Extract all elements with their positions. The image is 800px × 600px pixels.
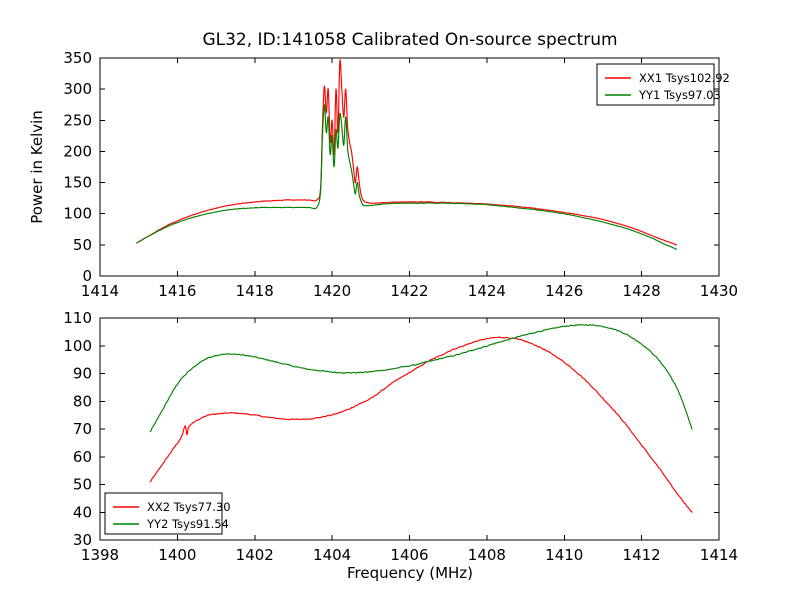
top-panel-legend[interactable]: XX1 Tsys102.92YY1 Tsys97.03 <box>597 64 730 105</box>
y-tick-label: 100 <box>63 337 92 355</box>
y-tick-label: 110 <box>63 309 92 327</box>
series-line <box>137 105 677 249</box>
series-line <box>137 60 677 245</box>
x-tick-label: 1430 <box>700 282 738 300</box>
top-panel-ylabel: Power in Kelvin <box>28 110 46 224</box>
bottom-panel-legend[interactable]: XX2 Tsys77.30YY2 Tsys91.54 <box>105 493 231 534</box>
x-tick-label: 1408 <box>468 546 506 564</box>
top-panel-series <box>137 60 677 249</box>
y-tick-label: 100 <box>63 205 92 223</box>
y-tick-label: 70 <box>73 420 92 438</box>
legend-label: XX2 Tsys77.30 <box>147 500 231 514</box>
y-tick-label: 150 <box>63 174 92 192</box>
bottom-panel-series <box>150 325 692 513</box>
y-tick-label: 300 <box>63 80 92 98</box>
plot-canvas: GL32, ID:141058 Calibrated On-source spe… <box>0 0 800 600</box>
x-tick-label: 1418 <box>236 282 274 300</box>
x-tick-label: 1420 <box>313 282 351 300</box>
x-tick-label: 1412 <box>623 546 661 564</box>
y-tick-label: 80 <box>73 392 92 410</box>
x-tick-label: 1428 <box>623 282 661 300</box>
bottom-panel-xlabel: Frequency (MHz) <box>347 564 473 582</box>
x-tick-label: 1404 <box>313 546 351 564</box>
bottom-panel: 1398140014021404140614081410141214143040… <box>63 309 738 582</box>
x-tick-label: 1410 <box>545 546 583 564</box>
y-tick-label: 30 <box>73 531 92 549</box>
figure-title: GL32, ID:141058 Calibrated On-source spe… <box>202 30 617 50</box>
y-tick-label: 60 <box>73 448 92 466</box>
x-tick-label: 1406 <box>390 546 428 564</box>
y-tick-label: 350 <box>63 49 92 67</box>
x-tick-label: 1426 <box>545 282 583 300</box>
x-tick-label: 1402 <box>236 546 274 564</box>
x-tick-label: 1422 <box>390 282 428 300</box>
series-line <box>150 325 692 432</box>
matplotlib-figure: GL32, ID:141058 Calibrated On-source spe… <box>0 0 800 600</box>
top-panel: 1414141614181420142214241426142814300501… <box>28 49 738 300</box>
x-tick-label: 1424 <box>468 282 506 300</box>
legend-label: YY2 Tsys91.54 <box>146 517 229 531</box>
y-tick-label: 200 <box>63 142 92 160</box>
x-tick-label: 1416 <box>158 282 196 300</box>
x-tick-label: 1414 <box>700 546 738 564</box>
legend-label: XX1 Tsys102.92 <box>639 71 730 85</box>
legend-label: YY1 Tsys97.03 <box>638 88 721 102</box>
y-tick-label: 90 <box>73 365 92 383</box>
y-tick-label: 0 <box>82 267 92 285</box>
y-tick-label: 50 <box>73 476 92 494</box>
y-tick-label: 50 <box>73 236 92 254</box>
y-tick-label: 40 <box>73 503 92 521</box>
x-tick-label: 1400 <box>158 546 196 564</box>
y-tick-label: 250 <box>63 111 92 129</box>
